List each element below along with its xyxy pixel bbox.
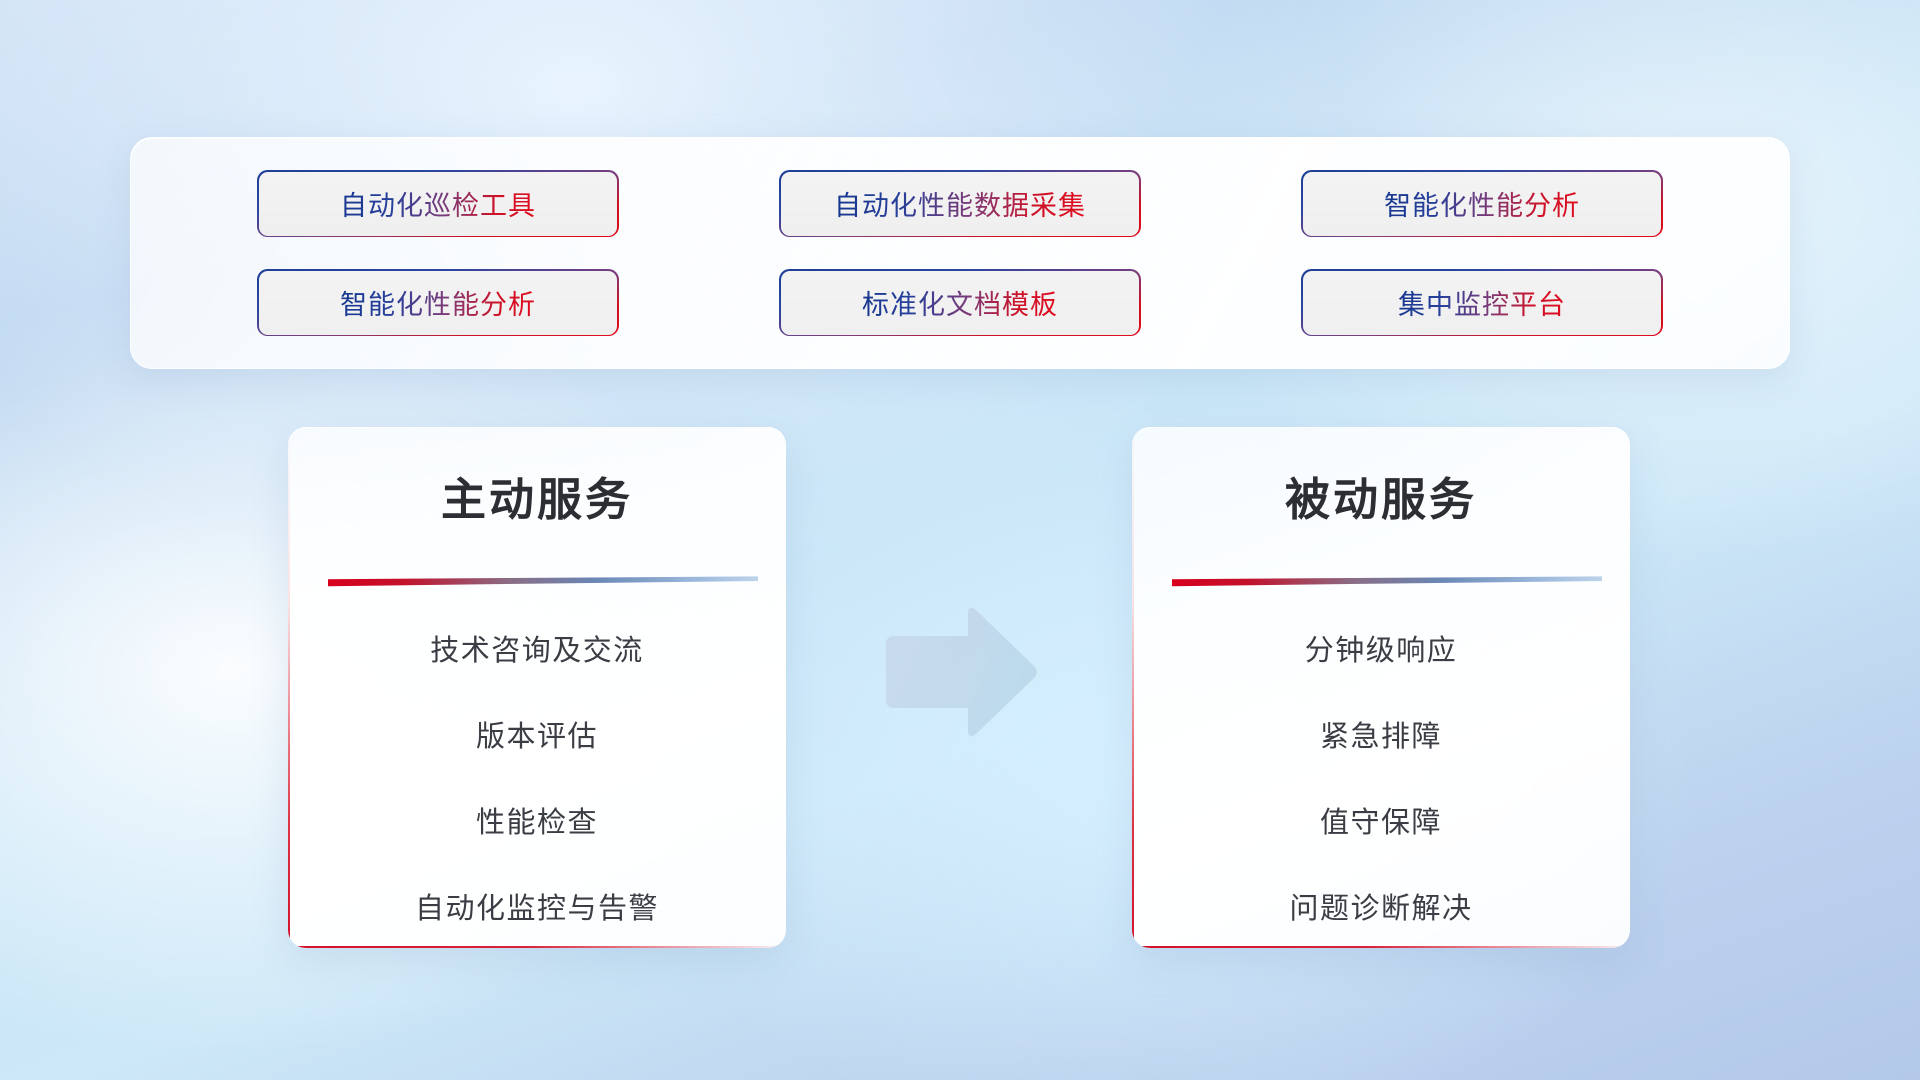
arrow-right-icon xyxy=(878,602,1040,742)
capability-pill-label: 智能化性能分析 xyxy=(340,283,536,322)
card-title: 主动服务 xyxy=(288,463,786,528)
card-divider xyxy=(1172,575,1602,587)
capability-pill-label: 集中监控平台 xyxy=(1398,283,1566,322)
capability-pill-grid: 自动化巡检工具 自动化性能数据采集 智能化性能分析 智能化性能分析 标准化文档模… xyxy=(131,138,1789,368)
card-divider xyxy=(328,575,758,587)
list-item: 值守保障 xyxy=(1320,799,1442,841)
capability-pill-label: 标准化文档模板 xyxy=(862,283,1058,322)
capability-pill[interactable]: 自动化巡检工具 xyxy=(259,172,617,236)
service-card-reactive: 被动服务 分钟级响应 紧急排障 值守保障 问题诊断解决 SLA式服务 xyxy=(1132,427,1630,948)
list-item: 性能检查 xyxy=(476,799,598,841)
service-list: 分钟级响应 紧急排障 值守保障 问题诊断解决 SLA式服务 xyxy=(1132,627,1630,948)
card-title: 被动服务 xyxy=(1132,463,1630,528)
list-item: 技术咨询及交流 xyxy=(430,627,644,669)
capability-pill[interactable]: 智能化性能分析 xyxy=(259,271,617,335)
capability-pill-label: 智能化性能分析 xyxy=(1384,184,1580,223)
list-item: 分钟级响应 xyxy=(1305,627,1458,669)
service-list: 技术咨询及交流 版本评估 性能检查 自动化监控与告警 健康巡检 xyxy=(288,627,786,948)
capability-pill[interactable]: 自动化性能数据采集 xyxy=(781,172,1139,236)
capability-pill[interactable]: 智能化性能分析 xyxy=(1303,172,1661,236)
list-item: 紧急排障 xyxy=(1320,713,1442,755)
capability-pill-label: 自动化巡检工具 xyxy=(340,184,536,223)
capability-pill-label: 自动化性能数据采集 xyxy=(834,184,1086,223)
capability-pill[interactable]: 集中监控平台 xyxy=(1303,271,1661,335)
list-item: 问题诊断解决 xyxy=(1289,885,1472,927)
list-item: 自动化监控与告警 xyxy=(415,885,659,927)
capability-pill[interactable]: 标准化文档模板 xyxy=(781,271,1139,335)
list-item: 版本评估 xyxy=(476,713,598,755)
service-card-proactive: 主动服务 技术咨询及交流 版本评估 性能检查 自动化监控与告警 健康巡检 xyxy=(288,427,786,948)
capabilities-panel: 自动化巡检工具 自动化性能数据采集 智能化性能分析 智能化性能分析 标准化文档模… xyxy=(130,137,1790,369)
